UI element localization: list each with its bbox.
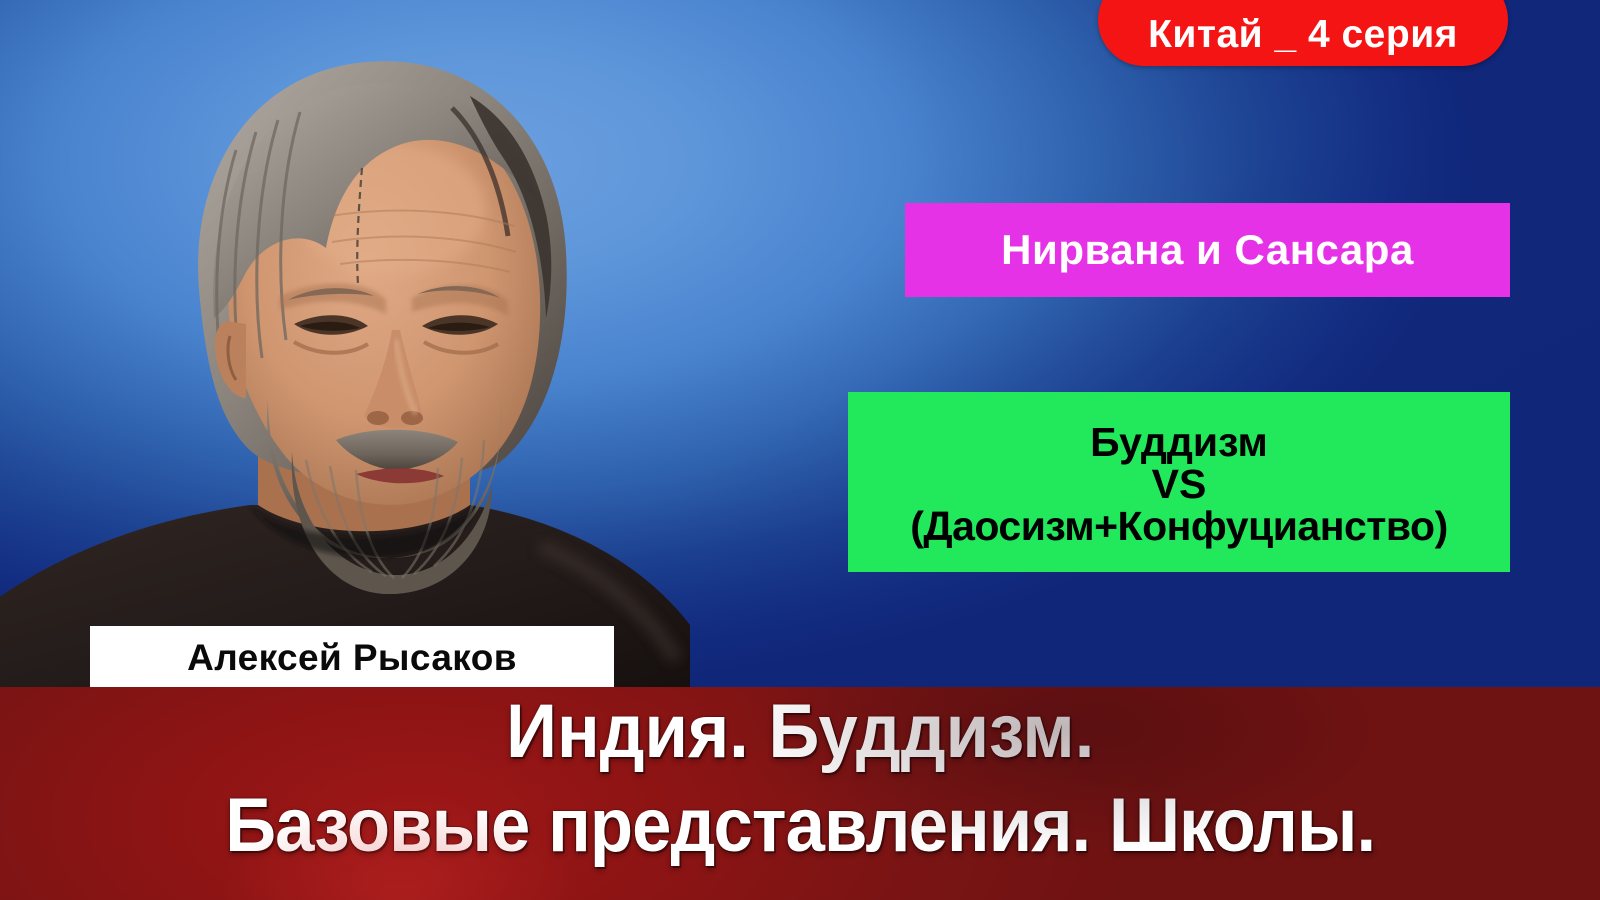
- comparison-line-1: Буддизм: [1090, 421, 1268, 463]
- comparison-line-2: VS: [1152, 463, 1207, 505]
- portrait-illustration: [0, 0, 760, 700]
- speaker-name: Алексей Рысаков: [187, 637, 517, 679]
- title-line-1: Индия. Буддизм.: [506, 693, 1094, 771]
- speaker-name-plate: Алексей Рысаков: [90, 626, 614, 690]
- series-badge: Китай _ 4 серия: [1098, 0, 1508, 66]
- title-text-group: Индия. Буддизм. Базовые представления. Ш…: [0, 687, 1600, 900]
- topic-box-magenta-label: Нирвана и Сансара: [1001, 226, 1414, 274]
- title-bar: Индия. Буддизм. Базовые представления. Ш…: [0, 687, 1600, 900]
- speaker-portrait: [0, 0, 760, 700]
- series-badge-label: Китай _ 4 серия: [1148, 13, 1458, 57]
- topic-box-comparison: Буддизм VS (Даосизм+Конфуцианство): [848, 392, 1510, 572]
- title-line-2: Базовые представления. Школы.: [225, 787, 1375, 865]
- topic-box-nirvana-samsara: Нирвана и Сансара: [905, 203, 1510, 297]
- comparison-line-3: (Даосизм+Конфуцианство): [910, 505, 1448, 547]
- video-thumbnail: Китай _ 4 серия Нирвана и Сансара Буддиз…: [0, 0, 1600, 900]
